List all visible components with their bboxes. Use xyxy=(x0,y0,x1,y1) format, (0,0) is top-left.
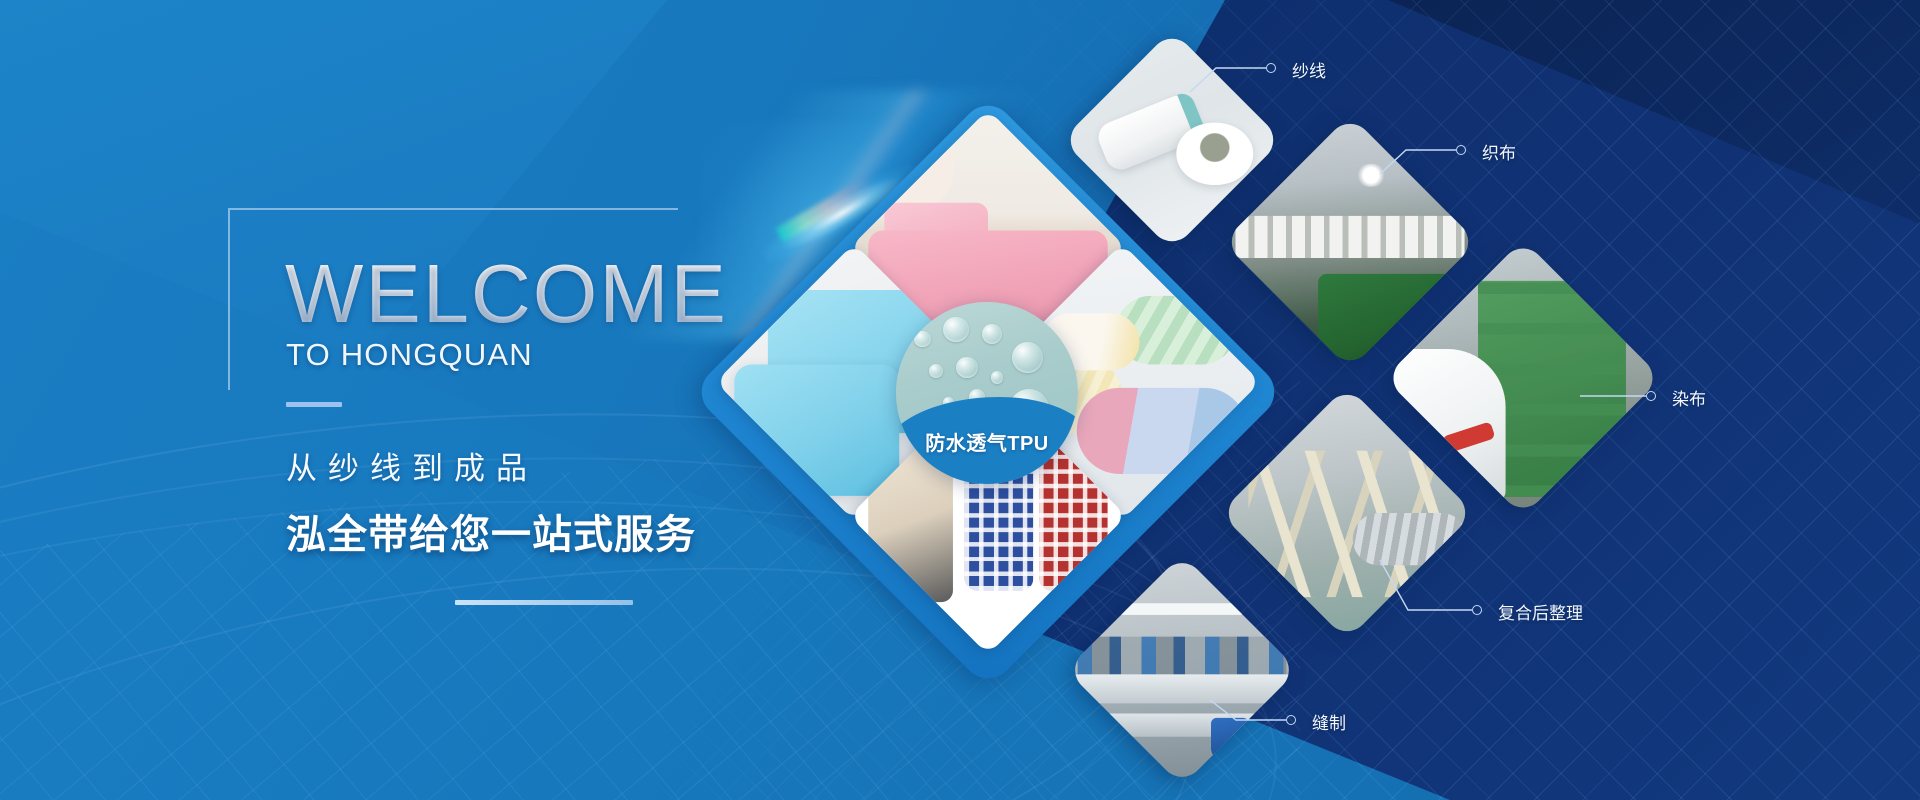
yarn-ring xyxy=(1177,122,1254,185)
slogan-chinese: 泓全带给您一站式服务 xyxy=(286,502,696,560)
water-droplet-icon xyxy=(956,357,978,379)
water-droplet-icon xyxy=(1012,342,1043,373)
tpu-badge-label: 防水透气TPU xyxy=(896,427,1078,456)
callout-label: 复合后整理 xyxy=(1498,599,1583,624)
water-droplet-icon xyxy=(914,331,930,347)
yarn-spool-rack xyxy=(1235,216,1465,258)
callout-dot-icon xyxy=(1456,145,1466,155)
page-title: WELCOME xyxy=(285,252,728,335)
sewing-workers xyxy=(1077,637,1286,675)
callout-label: 染布 xyxy=(1672,385,1706,410)
accent-bar-decoration xyxy=(286,402,342,407)
tpu-feature-badge[interactable]: 防水透气TPU xyxy=(896,302,1078,484)
callout-label: 织布 xyxy=(1482,139,1516,164)
water-droplet-icon xyxy=(991,371,1004,384)
callout-dot-icon xyxy=(1472,605,1482,615)
tagline-chinese: 从纱线到成品 xyxy=(286,443,538,488)
callout-dot-icon xyxy=(1286,715,1296,725)
page-subtitle: TO HONGQUAN xyxy=(286,337,533,373)
callout-label: 缝制 xyxy=(1312,709,1346,734)
sewing-bench xyxy=(1073,675,1292,704)
water-droplet-icon xyxy=(982,324,1002,344)
callout-label: 纱线 xyxy=(1292,57,1326,82)
bottom-divider-line xyxy=(455,600,633,605)
water-droplet-icon xyxy=(943,317,968,342)
callout-dot-icon xyxy=(1266,63,1276,73)
water-droplet-icon xyxy=(929,364,944,379)
hero-banner: WELCOME WELCOME TO HONGQUAN 从纱线到成品 泓全带给您… xyxy=(0,0,1920,800)
callout-dot-icon xyxy=(1646,391,1656,401)
